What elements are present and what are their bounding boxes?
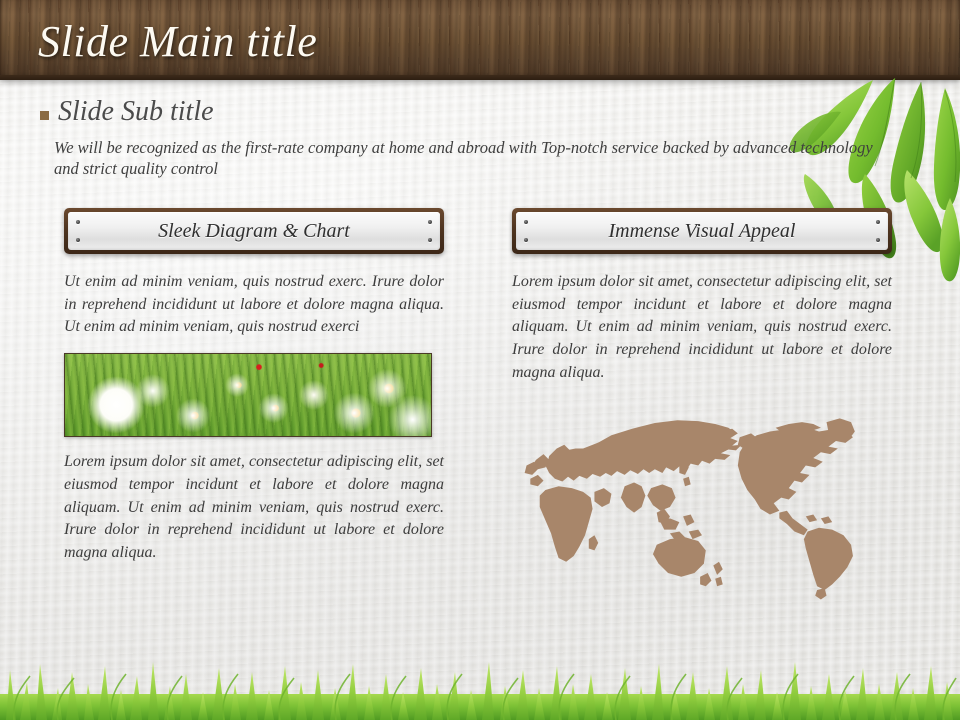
- screw-icon: [428, 238, 432, 242]
- plaque-face: Immense Visual Appeal: [516, 212, 888, 250]
- screw-icon: [524, 238, 528, 242]
- plaque-label-right: Immense Visual Appeal: [608, 220, 795, 243]
- content-column-left: Sleek Diagram & Chart Ut enim ad minim v…: [64, 208, 444, 565]
- paragraph-right-top: Lorem ipsum dolor sit amet, consectetur …: [512, 271, 892, 385]
- content-column-right: Immense Visual Appeal Lorem ipsum dolor …: [512, 208, 892, 612]
- screw-icon: [76, 238, 80, 242]
- screw-icon: [428, 220, 432, 224]
- plaque-face: Sleek Diagram & Chart: [68, 212, 440, 250]
- screw-icon: [876, 238, 880, 242]
- screw-icon: [76, 220, 80, 224]
- square-bullet-icon: [40, 111, 49, 120]
- plaque-header-left[interactable]: Sleek Diagram & Chart: [64, 208, 444, 254]
- daisy-meadow-photo: [64, 353, 432, 437]
- world-map-silhouette: [512, 407, 892, 607]
- page-title: Slide Main title: [38, 16, 317, 67]
- plaque-header-right[interactable]: Immense Visual Appeal: [512, 208, 892, 254]
- photo-content: [65, 354, 431, 436]
- page-subtitle: Slide Sub title: [58, 96, 214, 128]
- lead-paragraph: We will be recognized as the first-rate …: [54, 137, 894, 180]
- slide-canvas: Slide Main title: [0, 0, 960, 720]
- subtitle-row: Slide Sub title: [40, 96, 214, 128]
- paragraph-left-bottom: Lorem ipsum dolor sit amet, consectetur …: [64, 451, 444, 565]
- paragraph-left-top: Ut enim ad minim veniam, quis nostrud ex…: [64, 271, 444, 339]
- wood-banner: Slide Main title: [0, 0, 960, 80]
- screw-icon: [876, 220, 880, 224]
- screw-icon: [524, 220, 528, 224]
- plaque-label-left: Sleek Diagram & Chart: [158, 220, 350, 243]
